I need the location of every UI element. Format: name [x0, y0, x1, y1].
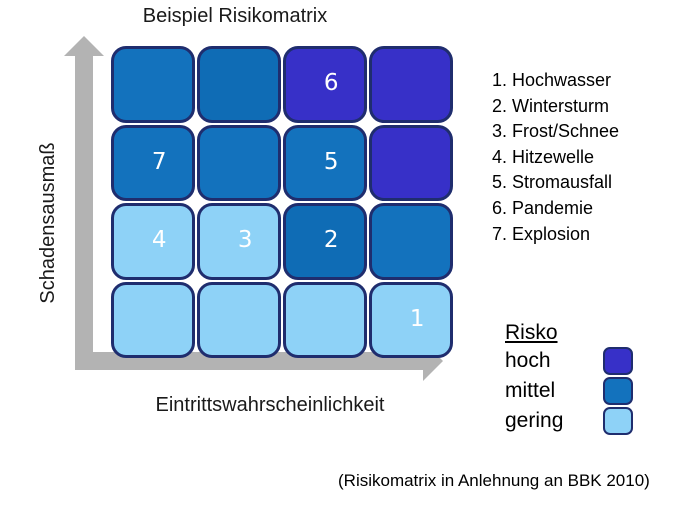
matrix-cell-r2-c1[interactable]: 3 — [197, 203, 281, 280]
hazard-list-item: 4. Hitzewelle — [492, 145, 619, 171]
risk-legend-label: hoch — [505, 349, 603, 373]
matrix-cell-r3-c3[interactable]: 1 — [369, 282, 453, 359]
matrix-cell-number: 5 — [324, 151, 339, 174]
hazard-list-item: 2. Wintersturm — [492, 94, 619, 120]
matrix-cell-r2-c3[interactable] — [369, 203, 453, 280]
matrix-cell-number: 6 — [324, 72, 339, 95]
matrix-cell-r0-c0[interactable] — [111, 46, 195, 123]
matrix-cell-r1-c2[interactable]: 5 — [283, 125, 367, 202]
risk-legend-swatch — [603, 377, 633, 405]
risk-legend-row-mittel: mittel — [505, 376, 685, 406]
matrix-cell-r1-c0[interactable]: 7 — [111, 125, 195, 202]
risk-matrix-grid: 6754321 — [111, 46, 453, 358]
risk-legend-label: mittel — [505, 379, 603, 403]
y-axis-label: Schadensausmaß — [37, 113, 59, 333]
matrix-cell-r1-c1[interactable] — [197, 125, 281, 202]
matrix-cell-r0-c2[interactable]: 6 — [283, 46, 367, 123]
risk-legend: Risko hochmittelgering — [505, 320, 685, 436]
hazard-legend-list: 1. Hochwasser2. Wintersturm3. Frost/Schn… — [492, 68, 619, 247]
matrix-cell-r0-c1[interactable] — [197, 46, 281, 123]
matrix-cell-r1-c3[interactable] — [369, 125, 453, 202]
hazard-list-item: 3. Frost/Schnee — [492, 119, 619, 145]
hazard-list-item: 7. Explosion — [492, 222, 619, 248]
risk-legend-row-hoch: hoch — [505, 346, 685, 376]
matrix-cell-number: 4 — [152, 229, 167, 252]
matrix-cell-number: 1 — [410, 308, 425, 331]
source-footnote: (Risikomatrix in Anlehnung an BBK 2010) — [338, 470, 650, 492]
risk-legend-label: gering — [505, 409, 603, 433]
risk-legend-row-gering: gering — [505, 406, 685, 436]
matrix-cell-r2-c0[interactable]: 4 — [111, 203, 195, 280]
matrix-cell-r3-c1[interactable] — [197, 282, 281, 359]
matrix-cell-r3-c0[interactable] — [111, 282, 195, 359]
hazard-list-item: 6. Pandemie — [492, 196, 619, 222]
matrix-cell-number: 3 — [238, 229, 253, 252]
hazard-list-item: 5. Stromausfall — [492, 170, 619, 196]
risk-legend-title: Risko — [505, 320, 685, 346]
x-axis-label: Eintrittswahrscheinlichkeit — [85, 393, 455, 417]
matrix-cell-number: 7 — [152, 151, 167, 174]
matrix-cell-r2-c2[interactable]: 2 — [283, 203, 367, 280]
matrix-cell-r3-c2[interactable] — [283, 282, 367, 359]
hazard-list-item: 1. Hochwasser — [492, 68, 619, 94]
page-title: Beispiel Risikomatrix — [0, 4, 470, 28]
risk-legend-rows: hochmittelgering — [505, 346, 685, 436]
risk-legend-swatch — [603, 347, 633, 375]
risk-legend-swatch — [603, 407, 633, 435]
matrix-cell-number: 2 — [324, 229, 339, 252]
matrix-cell-r0-c3[interactable] — [369, 46, 453, 123]
